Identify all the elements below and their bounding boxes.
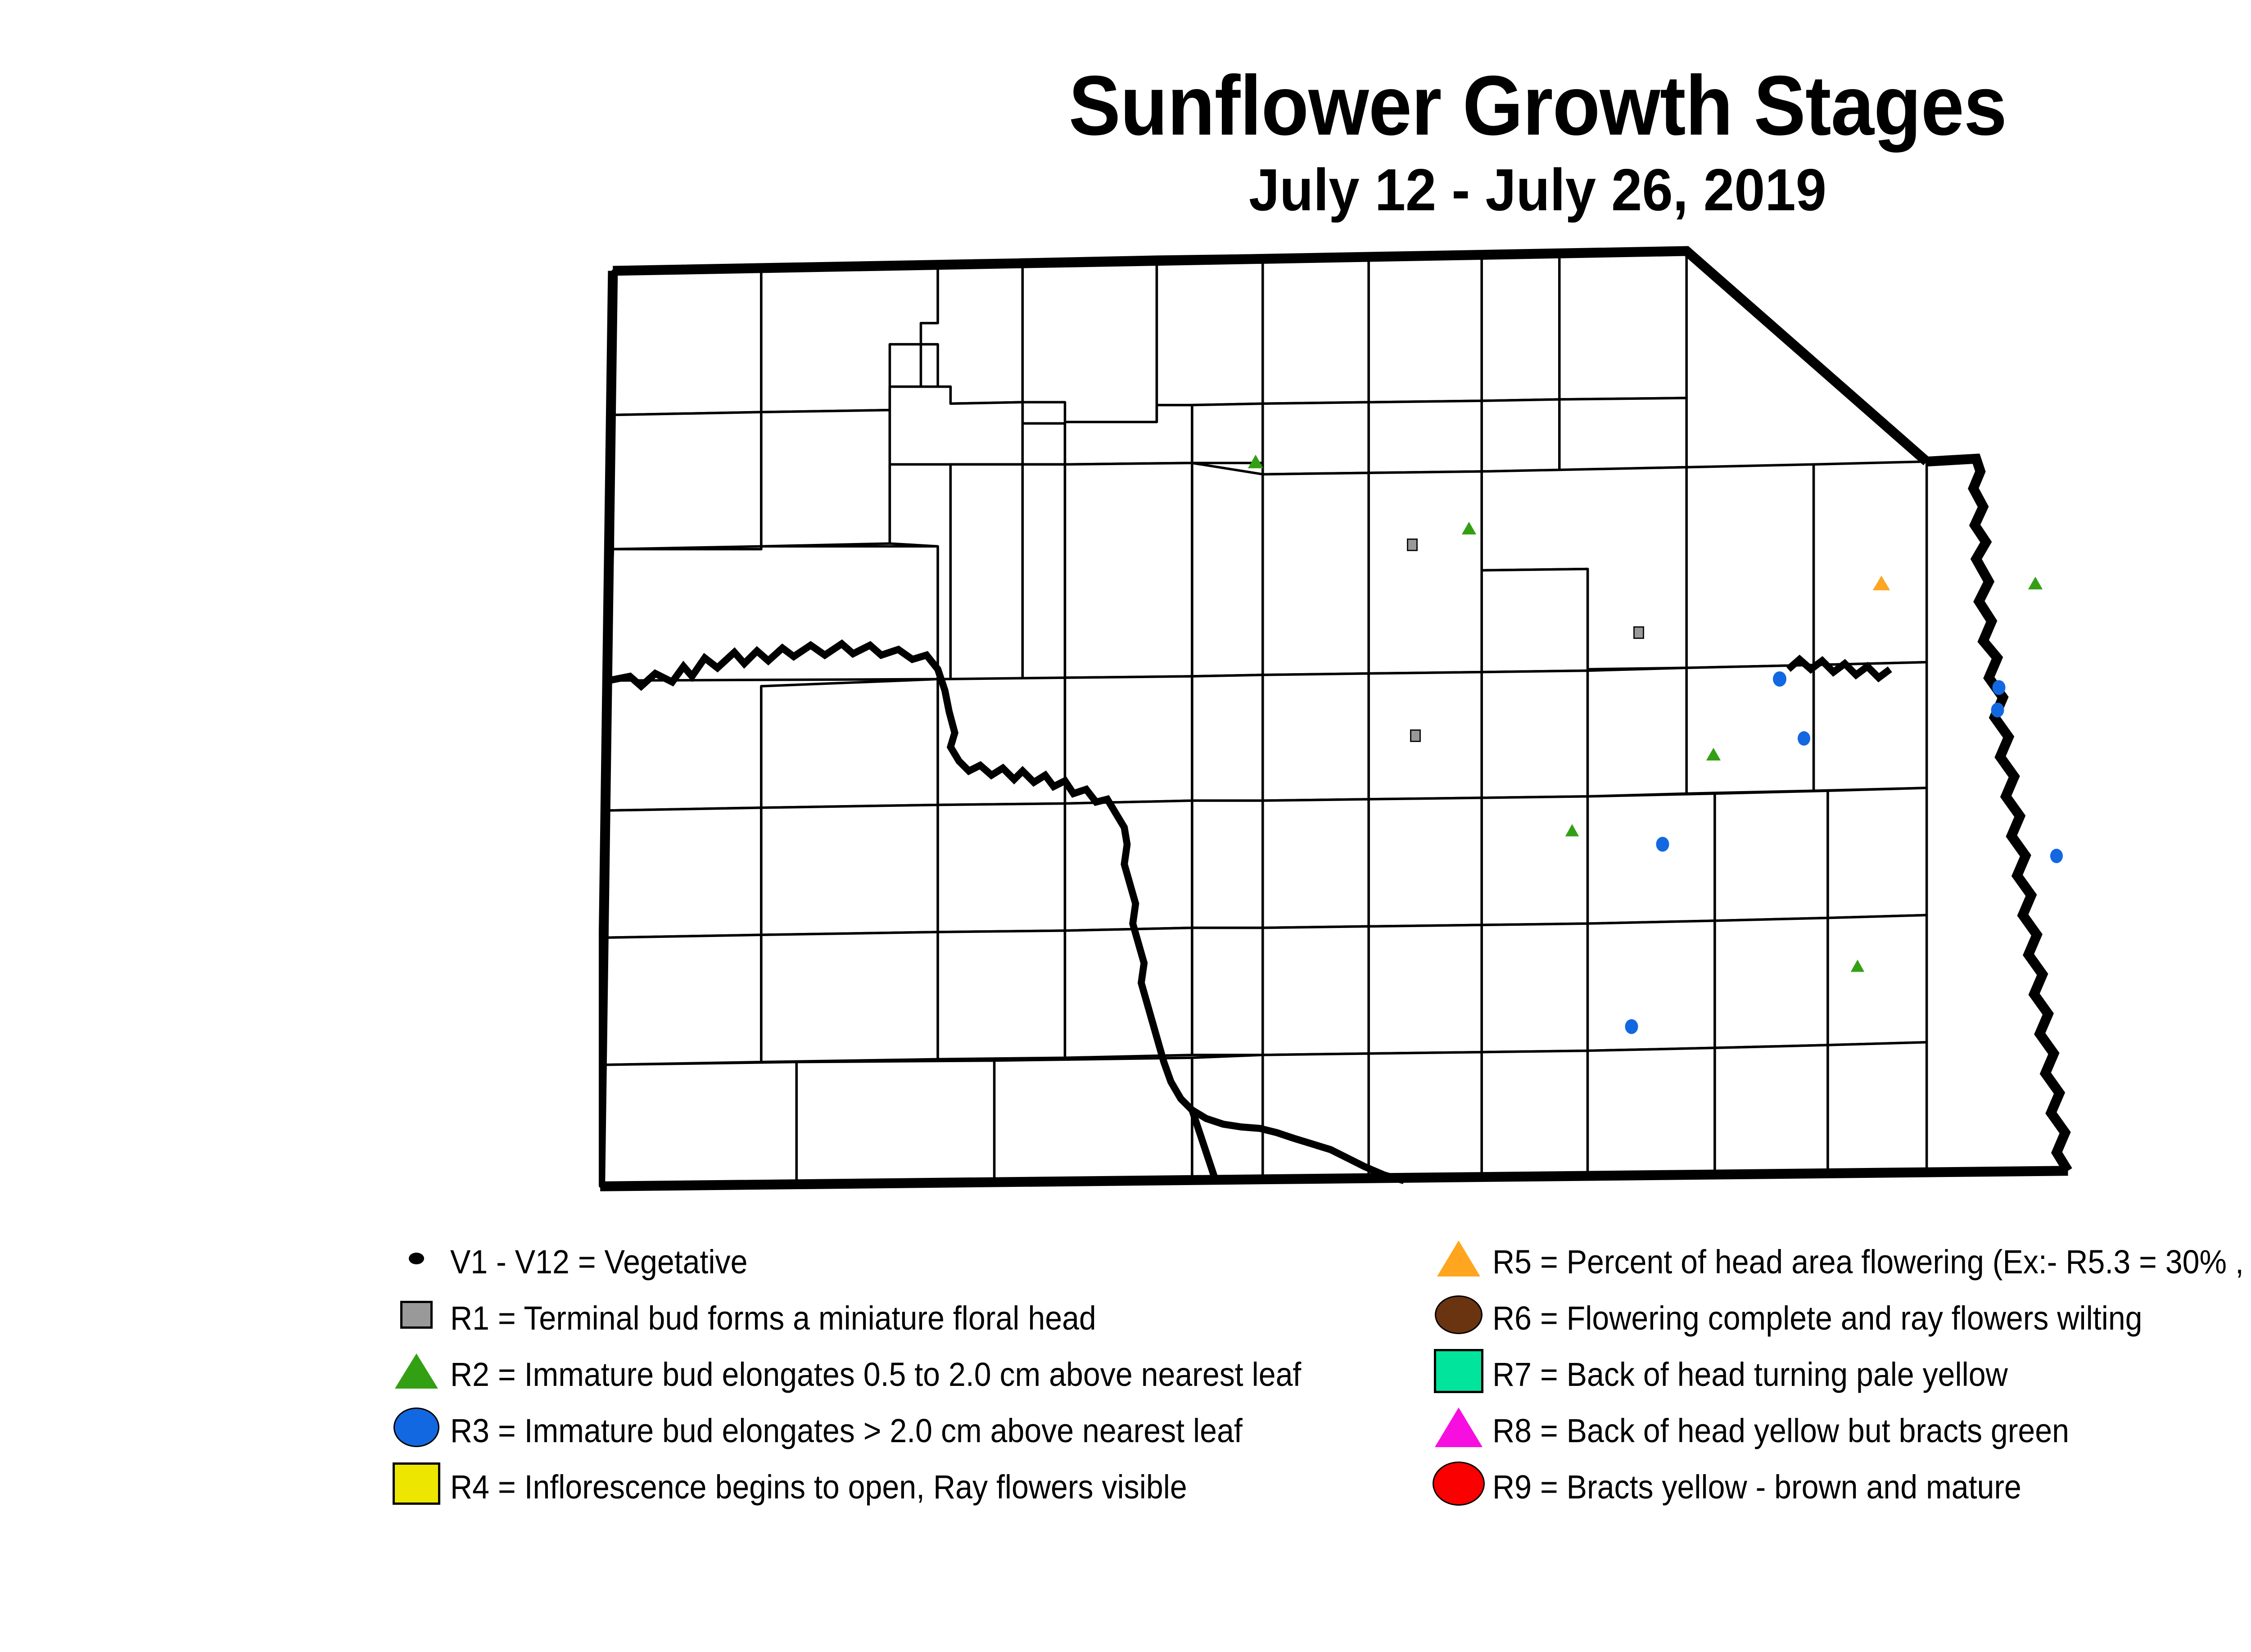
map-svg bbox=[599, 245, 2237, 1209]
legend-row-r8[interactable]: R8 = Back of head yellow but bracts gree… bbox=[1429, 1403, 2251, 1459]
legend-swatch-container bbox=[387, 1290, 446, 1340]
legend-label: R9 = Bracts yellow - brown and mature bbox=[1492, 1471, 2021, 1504]
map-marker-r2[interactable] bbox=[1851, 960, 1864, 972]
circle-icon bbox=[1435, 1295, 1483, 1334]
legend: V1 - V12 = VegetativeR1 = Terminal bud f… bbox=[0, 1234, 2251, 1594]
map-marker-r1[interactable] bbox=[1633, 626, 1644, 639]
legend-label: R7 = Back of head turning pale yellow bbox=[1492, 1358, 2008, 1391]
legend-row-r9[interactable]: R9 = Bracts yellow - brown and mature bbox=[1429, 1459, 2251, 1515]
legend-label: R8 = Back of head yellow but bracts gree… bbox=[1492, 1414, 2069, 1448]
legend-row-r2[interactable]: R2 = Immature bud elongates 0.5 to 2.0 c… bbox=[387, 1346, 1490, 1403]
legend-label: R5 = Percent of head area flowering (Ex:… bbox=[1492, 1245, 2251, 1279]
map-marker-r3[interactable] bbox=[1798, 731, 1810, 746]
map-marker-r5[interactable] bbox=[1873, 576, 1890, 590]
map-marker-r2[interactable] bbox=[1706, 748, 1721, 760]
legend-swatch-container bbox=[1429, 1403, 1488, 1452]
square-icon bbox=[1434, 1349, 1483, 1393]
legend-row-r7[interactable]: R7 = Back of head turning pale yellow bbox=[1429, 1346, 2251, 1403]
triangle-icon bbox=[1435, 1408, 1483, 1447]
page-title: Sunflower Growth Stages bbox=[123, 63, 2251, 148]
page-subtitle: July 12 - July 26, 2019 bbox=[108, 160, 2251, 220]
map-marker-r3[interactable] bbox=[1773, 671, 1786, 687]
map-marker-r2[interactable] bbox=[1565, 824, 1579, 837]
legend-swatch-container bbox=[387, 1346, 446, 1396]
legend-row-r3[interactable]: R3 = Immature bud elongates > 2.0 cm abo… bbox=[387, 1403, 1490, 1459]
triangle-icon bbox=[1437, 1240, 1480, 1276]
legend-row-r1[interactable]: R1 = Terminal bud forms a miniature flor… bbox=[387, 1290, 1490, 1346]
square-icon bbox=[400, 1301, 433, 1329]
map-marker-r3[interactable] bbox=[1991, 703, 2004, 718]
legend-swatch-container bbox=[387, 1234, 446, 1283]
square-icon bbox=[393, 1462, 440, 1505]
map-marker-r2[interactable] bbox=[2028, 577, 2043, 589]
legend-row-v1[interactable]: V1 - V12 = Vegetative bbox=[387, 1234, 1490, 1290]
circle-icon bbox=[1433, 1462, 1485, 1506]
map-marker-r3[interactable] bbox=[1656, 837, 1669, 852]
legend-swatch-container bbox=[1429, 1459, 1488, 1508]
legend-row-r4[interactable]: R4 = Inflorescence begins to open, Ray f… bbox=[387, 1459, 1490, 1515]
legend-label: R3 = Immature bud elongates > 2.0 cm abo… bbox=[450, 1414, 1243, 1448]
map-marker-r3[interactable] bbox=[2050, 849, 2063, 863]
triangle-icon bbox=[395, 1353, 438, 1389]
legend-swatch-container bbox=[387, 1459, 446, 1508]
north-dakota-map[interactable] bbox=[599, 245, 2237, 1209]
map-marker-r3[interactable] bbox=[1992, 680, 2005, 695]
county-boundaries bbox=[600, 251, 1927, 1186]
circle-icon bbox=[393, 1408, 439, 1447]
legend-row-r6[interactable]: R6 = Flowering complete and ray flowers … bbox=[1429, 1290, 2251, 1346]
legend-column-right: R5 = Percent of head area flowering (Ex:… bbox=[1429, 1234, 2251, 1515]
legend-label: R4 = Inflorescence begins to open, Ray f… bbox=[450, 1471, 1187, 1504]
legend-swatch-container bbox=[1429, 1234, 1488, 1283]
map-marker-r2[interactable] bbox=[1462, 522, 1476, 534]
legend-swatch-container bbox=[1429, 1290, 1488, 1340]
legend-label: V1 - V12 = Vegetative bbox=[450, 1245, 747, 1279]
title-block: Sunflower Growth Stages July 12 - July 2… bbox=[0, 63, 2251, 220]
legend-swatch-container bbox=[1429, 1346, 1488, 1396]
map-marker-r1[interactable] bbox=[1410, 729, 1421, 742]
legend-label: R6 = Flowering complete and ray flowers … bbox=[1492, 1302, 2143, 1335]
legend-column-left: V1 - V12 = VegetativeR1 = Terminal bud f… bbox=[387, 1234, 1490, 1515]
legend-label: R1 = Terminal bud forms a miniature flor… bbox=[450, 1302, 1096, 1335]
dot-icon bbox=[409, 1253, 424, 1264]
map-marker-r1[interactable] bbox=[1407, 539, 1418, 551]
red-river-border bbox=[1927, 459, 2068, 1171]
legend-swatch-container bbox=[387, 1403, 446, 1452]
legend-row-r5[interactable]: R5 = Percent of head area flowering (Ex:… bbox=[1429, 1234, 2251, 1290]
legend-label: R2 = Immature bud elongates 0.5 to 2.0 c… bbox=[450, 1358, 1301, 1391]
map-marker-r2[interactable] bbox=[1248, 455, 1263, 468]
map-marker-r3[interactable] bbox=[1625, 1019, 1638, 1034]
